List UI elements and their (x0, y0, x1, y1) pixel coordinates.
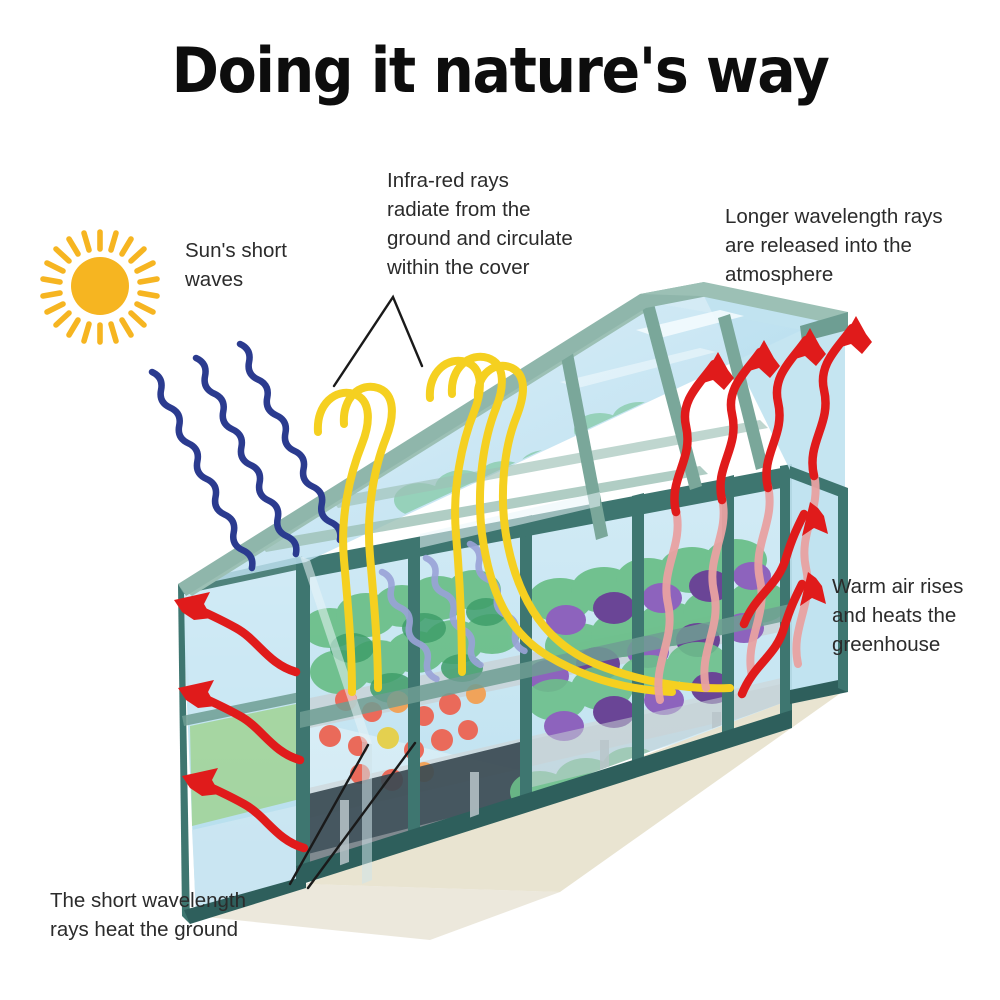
greenhouse-diagram (0, 0, 1000, 1000)
caption-sun-short-waves: Sun's short waves (185, 236, 287, 294)
caption-longer-wavelength-rays: Longer wavelength rays are released into… (725, 202, 943, 289)
page-title: Doing it nature's way (40, 34, 960, 107)
caption-warm-air-rises: Warm air rises and heats the greenhouse (832, 572, 963, 659)
sun-icon (43, 232, 157, 342)
caption-short-wavelength-ground: The short wavelength rays heat the groun… (50, 886, 246, 944)
infographic-canvas: Doing it nature's way Sun's short waves … (0, 0, 1000, 1000)
caption-infra-red-rays: Infra-red rays radiate from the ground a… (387, 166, 573, 282)
infra-red-caret-pointer (334, 297, 422, 386)
